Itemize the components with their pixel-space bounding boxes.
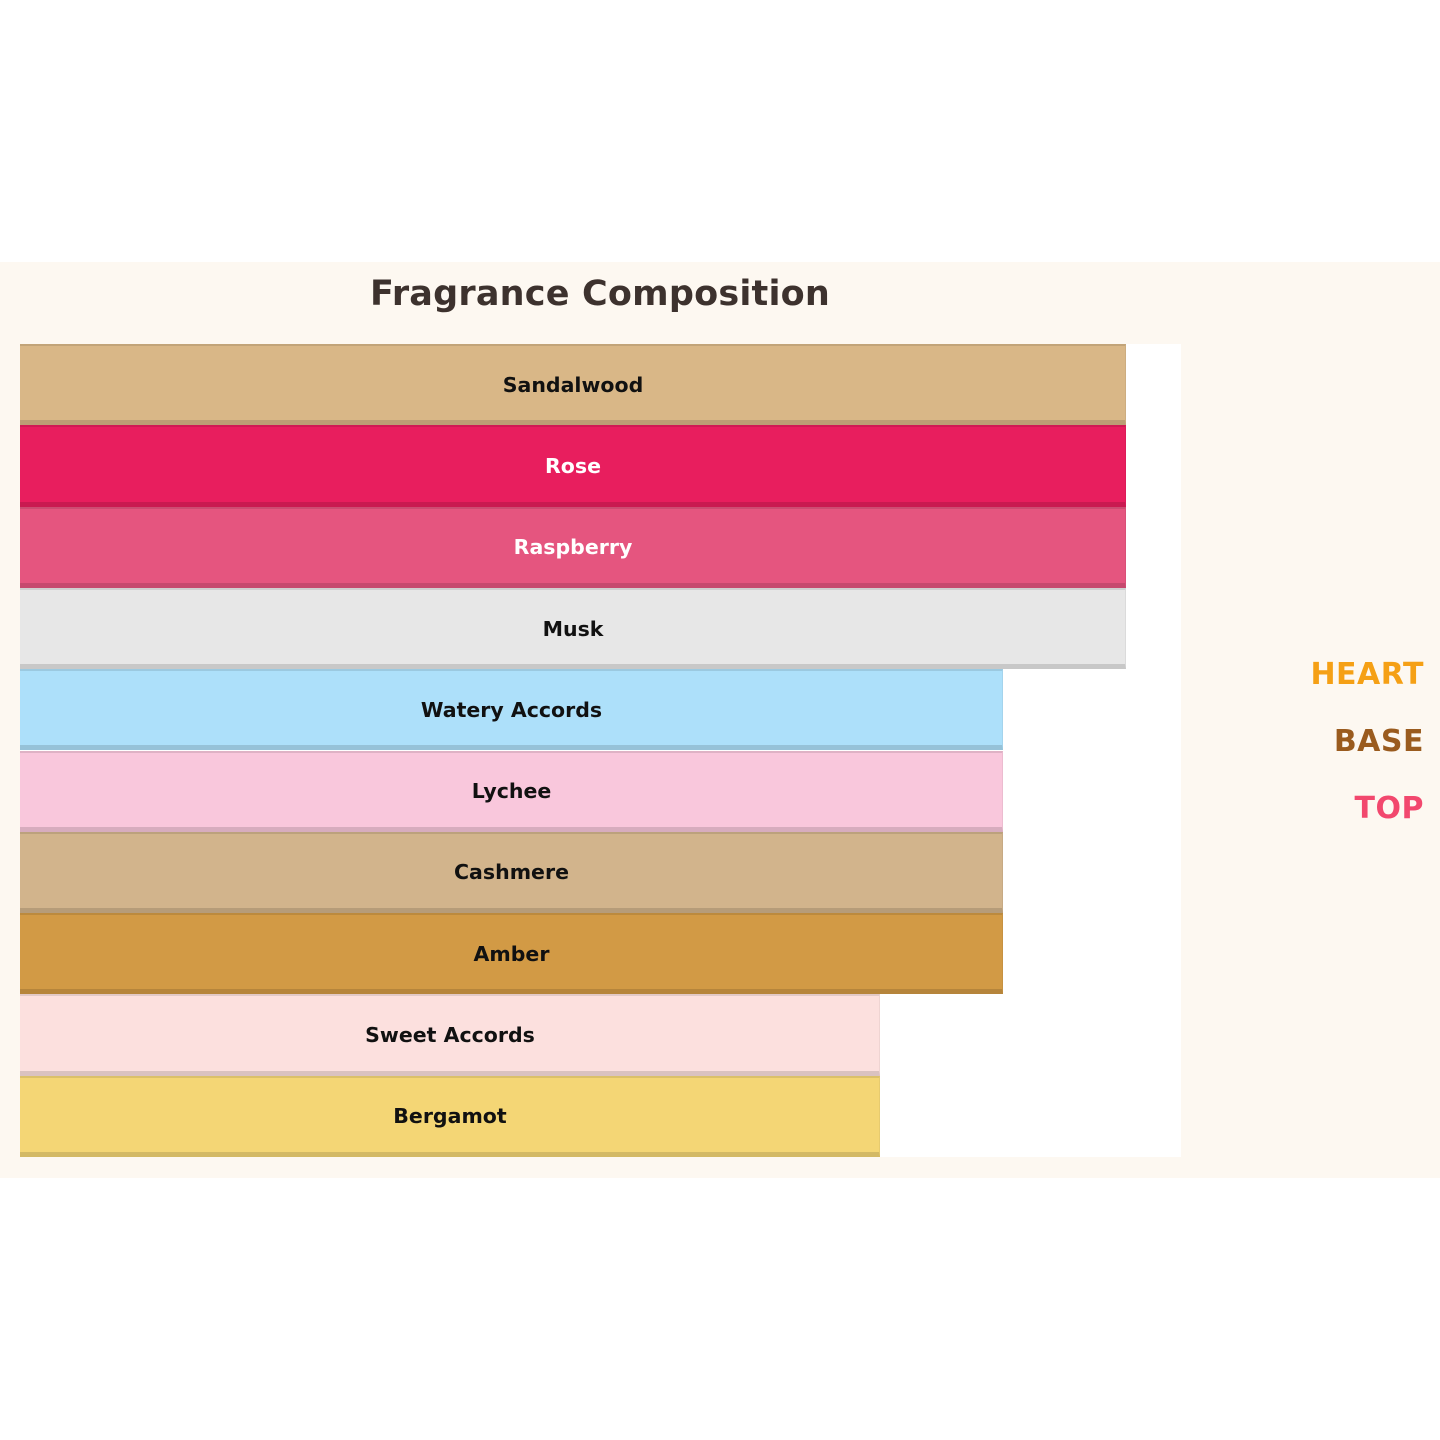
bar-watery-accords[interactable] [20, 669, 1003, 750]
bar-row: Lychee [20, 751, 1181, 832]
bar-sandalwood[interactable] [20, 344, 1126, 425]
bar-musk[interactable] [20, 588, 1126, 669]
bar-cashmere[interactable] [20, 832, 1003, 913]
bar-raspberry[interactable] [20, 507, 1126, 588]
bar-lychee[interactable] [20, 751, 1003, 832]
figure-canvas: Fragrance Composition SandalwoodRoseRasp… [0, 262, 1440, 1178]
plot-area: SandalwoodRoseRaspberryMuskWatery Accord… [20, 344, 1181, 1157]
legend-entry-top[interactable]: TOP [1194, 794, 1424, 824]
bar-sweet-accords[interactable] [20, 994, 880, 1075]
bar-bergamot[interactable] [20, 1076, 880, 1157]
bar-row: Sandalwood [20, 344, 1181, 425]
bar-amber[interactable] [20, 913, 1003, 994]
legend-entry-base[interactable]: BASE [1194, 727, 1424, 757]
bar-row: Cashmere [20, 832, 1181, 913]
chart-title: Fragrance Composition [0, 274, 1200, 314]
bar-row: Bergamot [20, 1076, 1181, 1157]
bar-row: Rose [20, 425, 1181, 506]
bar-row: Musk [20, 588, 1181, 669]
chart-legend: HEARTBASETOP [1194, 660, 1424, 861]
bar-row: Raspberry [20, 507, 1181, 588]
bar-row: Sweet Accords [20, 994, 1181, 1075]
bar-rose[interactable] [20, 425, 1126, 506]
bar-row: Amber [20, 913, 1181, 994]
legend-entry-heart[interactable]: HEART [1194, 660, 1424, 690]
bar-row: Watery Accords [20, 669, 1181, 750]
